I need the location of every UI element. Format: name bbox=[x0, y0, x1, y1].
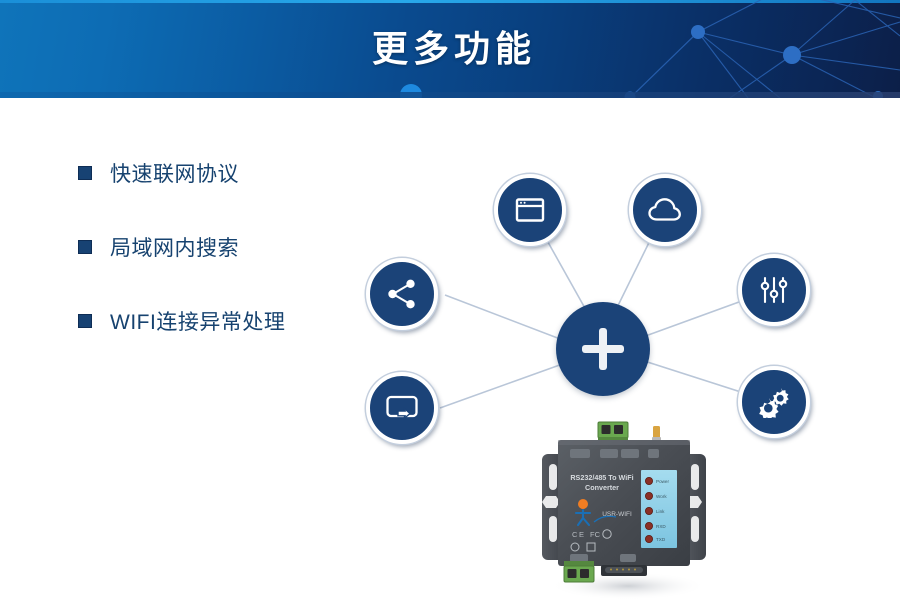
header-banner: 更多功能 bbox=[0, 0, 900, 98]
square-bullet-icon bbox=[78, 240, 92, 254]
hub-node-cast-screen[interactable] bbox=[366, 372, 438, 444]
feature-list: 快速联网协议 局域网内搜索 WIFI连接异常处理 bbox=[78, 158, 378, 380]
browser-window-icon bbox=[515, 197, 545, 223]
feature-label: WIFI连接异常处理 bbox=[110, 306, 285, 336]
hub-node-settings-sliders[interactable] bbox=[738, 254, 810, 326]
header-bottom-strip bbox=[0, 92, 900, 98]
svg-text:C: C bbox=[572, 530, 578, 539]
hub-node-share[interactable] bbox=[366, 258, 438, 330]
terminal-block-bottom bbox=[564, 561, 594, 582]
hub-node-cloud[interactable] bbox=[629, 174, 701, 246]
hub-center-plus[interactable] bbox=[556, 302, 650, 396]
terminal-block-top bbox=[598, 422, 628, 442]
device-label-line1: RS232/485 To WiFi bbox=[570, 473, 633, 482]
list-item: 快速联网协议 bbox=[78, 158, 378, 188]
plus-icon bbox=[577, 323, 629, 375]
svg-text:Link: Link bbox=[656, 509, 665, 514]
svg-text:TXD: TXD bbox=[656, 537, 666, 542]
product-device-image: RS232/485 To WiFi Converter USR-WIFI C E… bbox=[528, 418, 728, 603]
svg-text:Power: Power bbox=[656, 479, 669, 484]
hub-node-browser[interactable] bbox=[494, 174, 566, 246]
hub-node-gears[interactable] bbox=[738, 366, 810, 438]
sliders-icon bbox=[759, 275, 789, 305]
feature-label: 局域网内搜索 bbox=[110, 232, 239, 262]
share-nodes-icon bbox=[387, 279, 417, 309]
db9-serial-connector bbox=[601, 565, 647, 576]
list-item: WIFI连接异常处理 bbox=[78, 306, 378, 336]
cloud-icon bbox=[648, 197, 682, 223]
svg-text:RXD: RXD bbox=[656, 524, 666, 529]
cast-screen-icon bbox=[385, 394, 419, 422]
svg-text:E: E bbox=[579, 530, 584, 539]
feature-label: 快速联网协议 bbox=[110, 158, 239, 188]
device-label-line2: Converter bbox=[585, 483, 619, 492]
page-title: 更多功能 bbox=[0, 0, 900, 92]
square-bullet-icon bbox=[78, 166, 92, 180]
square-bullet-icon bbox=[78, 314, 92, 328]
gears-icon bbox=[757, 386, 791, 418]
device-brand-text: USR-WIFI bbox=[602, 511, 632, 518]
antenna-connector bbox=[652, 426, 661, 442]
device-led-panel: Power Work Link RXD TXD bbox=[641, 470, 677, 548]
svg-text:Work: Work bbox=[656, 494, 667, 499]
svg-text:FC: FC bbox=[590, 530, 601, 539]
list-item: 局域网内搜索 bbox=[78, 232, 378, 262]
